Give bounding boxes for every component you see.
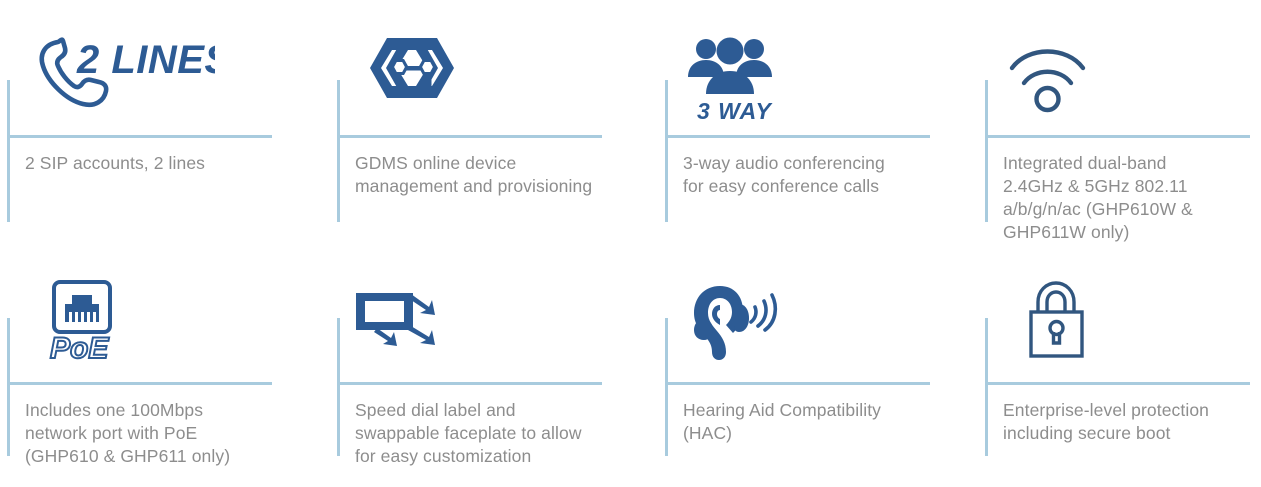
feature-description: 2 SIP accounts, 2 lines bbox=[25, 152, 300, 175]
horizontal-rule bbox=[337, 382, 602, 385]
three-people-conference-icon: 3 WAY bbox=[685, 30, 795, 130]
horizontal-rule bbox=[985, 382, 1250, 385]
padlock-icon bbox=[1023, 280, 1095, 362]
svg-text:PoE: PoE bbox=[50, 332, 109, 362]
feature-description: GDMS online device management and provis… bbox=[355, 152, 640, 198]
svg-text:2 LINES: 2 LINES bbox=[76, 38, 215, 82]
feature-cell-two-lines: 2 LINES 2 SIP accounts, 2 lines bbox=[7, 22, 307, 232]
gdms-hexagon-network-icon bbox=[355, 36, 467, 106]
feature-grid: 2 LINES 2 SIP accounts, 2 lines bbox=[0, 0, 1261, 487]
vertical-rule bbox=[665, 80, 668, 222]
horizontal-rule bbox=[665, 382, 930, 385]
feature-cell-hac: Hearing Aid Compatibility (HAC) bbox=[665, 268, 965, 478]
feature-cell-gdms: GDMS online device management and provis… bbox=[337, 22, 637, 232]
wifi-icon bbox=[1005, 36, 1110, 116]
feature-description: Includes one 100Mbps network port with P… bbox=[25, 399, 305, 468]
feature-cell-security: Enterprise-level protection including se… bbox=[985, 268, 1261, 478]
ethernet-poe-icon: PoE bbox=[45, 280, 131, 362]
swappable-faceplate-icon bbox=[355, 288, 445, 350]
vertical-rule bbox=[337, 80, 340, 222]
feature-cell-faceplate: Speed dial label and swappable faceplate… bbox=[337, 268, 637, 478]
feature-description: 3-way audio conferencing for easy confer… bbox=[683, 152, 958, 198]
vertical-rule bbox=[665, 318, 668, 456]
vertical-rule bbox=[7, 318, 10, 456]
vertical-rule bbox=[985, 80, 988, 222]
vertical-rule bbox=[985, 318, 988, 456]
phone-handset-2-lines-icon: 2 LINES bbox=[25, 30, 215, 112]
vertical-rule bbox=[7, 80, 10, 222]
feature-cell-poe: PoE Includes one 100Mbps network port wi… bbox=[7, 268, 307, 478]
feature-description: Integrated dual-band 2.4GHz & 5GHz 802.1… bbox=[1003, 152, 1253, 244]
horizontal-rule bbox=[665, 135, 930, 138]
horizontal-rule bbox=[985, 135, 1250, 138]
hearing-aid-ear-icon bbox=[687, 282, 783, 364]
feature-cell-wifi: Integrated dual-band 2.4GHz & 5GHz 802.1… bbox=[985, 22, 1261, 252]
svg-text:3 WAY: 3 WAY bbox=[697, 98, 774, 124]
horizontal-rule bbox=[7, 135, 272, 138]
feature-description: Speed dial label and swappable faceplate… bbox=[355, 399, 645, 468]
feature-description: Hearing Aid Compatibility (HAC) bbox=[683, 399, 958, 445]
feature-cell-three-way: 3 WAY 3-way audio conferencing for easy … bbox=[665, 22, 965, 232]
horizontal-rule bbox=[7, 382, 272, 385]
vertical-rule bbox=[337, 318, 340, 456]
horizontal-rule bbox=[337, 135, 602, 138]
feature-description: Enterprise-level protection including se… bbox=[1003, 399, 1258, 445]
